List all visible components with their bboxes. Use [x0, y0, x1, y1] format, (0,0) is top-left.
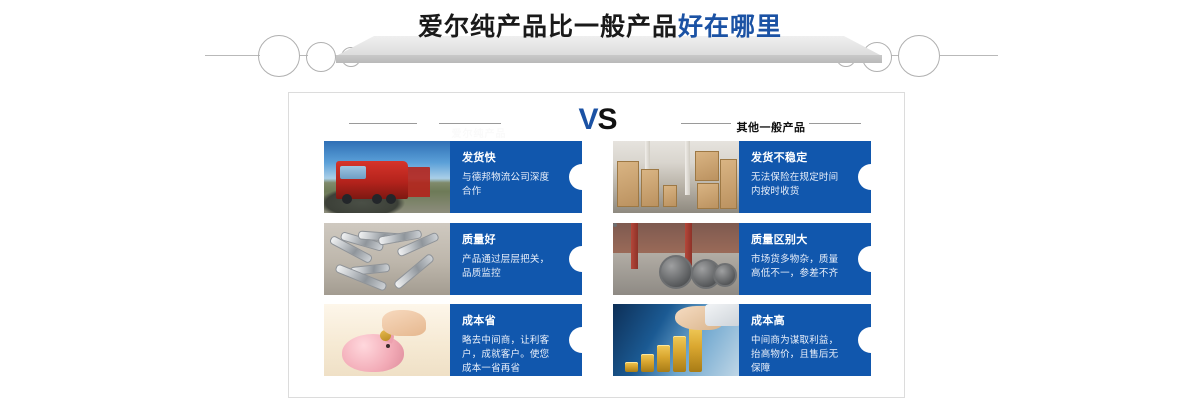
banner-platform-edge — [336, 55, 882, 63]
ours-card-delivery-body: 发货快 与德邦物流公司深度合作 — [450, 141, 582, 213]
header-rule-3 — [681, 123, 731, 124]
card-description: 无法保险在规定时间内按时收货 — [751, 171, 841, 199]
banner-circle-medium-left — [306, 42, 336, 72]
ours-card-quality[interactable]: 质量好 产品通过层层把关，品质监控 — [324, 223, 582, 295]
comparison-grid: 发货快 与德邦物流公司深度合作 发货不稳定 无法保险在规定时间内按时收货 — [324, 141, 871, 389]
vs-letter-v: V — [578, 103, 597, 136]
card-notch-circle — [569, 164, 582, 190]
page-title: 爱尔纯产品比一般产品好在哪里 — [0, 12, 1200, 42]
card-notch-circle — [569, 246, 582, 272]
theirs-column-label: 其他一般产品 — [731, 122, 811, 135]
comparison-header-row: 爱尔纯产品 VS 其他一般产品 — [289, 101, 906, 141]
banner-rule-left — [205, 55, 260, 56]
comparison-row: 质量好 产品通过层层把关，品质监控 质量区别大 市场货多物杂，质量高低不一，参差… — [324, 223, 871, 295]
card-title: 质量好 — [462, 233, 552, 247]
card-title: 发货不稳定 — [751, 151, 841, 165]
card-notch-circle — [569, 327, 582, 353]
gold-coins-photo — [613, 304, 739, 376]
theirs-card-cost-body: 成本高 中间商为谋取利益，抬高物价，且售后无保障 — [739, 304, 871, 376]
ours-card-quality-body: 质量好 产品通过层层把关，品质监控 — [450, 223, 582, 295]
card-title: 成本省 — [462, 314, 552, 328]
card-description: 产品通过层层把关，品质监控 — [462, 253, 552, 281]
card-title: 发货快 — [462, 151, 552, 165]
comparison-infographic-page: 爱尔纯产品比一般产品好在哪里 爱尔纯产品 VS 其他一般产品 发货快 — [0, 0, 1200, 400]
header-rule-4 — [809, 123, 861, 124]
theirs-card-quality[interactable]: 质量区别大 市场货多物杂，质量高低不一，参差不齐 — [613, 223, 871, 295]
pipes-photo — [613, 223, 739, 295]
card-description: 略去中间商，让利客户，成就客户。使您成本一省再省 — [462, 334, 552, 376]
truck-photo — [324, 141, 450, 213]
theirs-card-delivery-body: 发货不稳定 无法保险在规定时间内按时收货 — [739, 141, 871, 213]
card-notch-circle — [858, 164, 871, 190]
vs-letter-s: S — [598, 103, 617, 136]
theirs-card-delivery[interactable]: 发货不稳定 无法保险在规定时间内按时收货 — [613, 141, 871, 213]
card-description: 中间商为谋取利益，抬高物价，且售后无保障 — [751, 334, 841, 376]
theirs-card-quality-body: 质量区别大 市场货多物杂，质量高低不一，参差不齐 — [739, 223, 871, 295]
card-notch-circle — [858, 246, 871, 272]
page-title-highlight: 好在哪里 — [678, 13, 782, 41]
comparison-panel: 爱尔纯产品 VS 其他一般产品 发货快 与德邦物流公司深度合作 — [288, 92, 905, 398]
comparison-row: 发货快 与德邦物流公司深度合作 发货不稳定 无法保险在规定时间内按时收货 — [324, 141, 871, 213]
ours-card-cost-body: 成本省 略去中间商，让利客户，成就客户。使您成本一省再省 — [450, 304, 582, 376]
warehouse-photo — [613, 141, 739, 213]
page-banner: 爱尔纯产品比一般产品好在哪里 — [0, 0, 1200, 85]
card-title: 成本高 — [751, 314, 841, 328]
steel-parts-photo — [324, 223, 450, 295]
comparison-row: 成本省 略去中间商，让利客户，成就客户。使您成本一省再省 成本高 中间商为谋取利… — [324, 304, 871, 376]
page-title-main: 爱尔纯产品比一般产品 — [418, 13, 678, 41]
card-notch-circle — [858, 327, 871, 353]
piggy-bank-photo — [324, 304, 450, 376]
card-title: 质量区别大 — [751, 233, 841, 247]
banner-rule-right — [940, 55, 998, 56]
vs-badge: VS — [289, 103, 906, 137]
card-description: 与德邦物流公司深度合作 — [462, 171, 552, 199]
theirs-card-cost[interactable]: 成本高 中间商为谋取利益，抬高物价，且售后无保障 — [613, 304, 871, 376]
ours-card-cost[interactable]: 成本省 略去中间商，让利客户，成就客户。使您成本一省再省 — [324, 304, 582, 376]
ours-card-delivery[interactable]: 发货快 与德邦物流公司深度合作 — [324, 141, 582, 213]
card-description: 市场货多物杂，质量高低不一，参差不齐 — [751, 253, 841, 281]
